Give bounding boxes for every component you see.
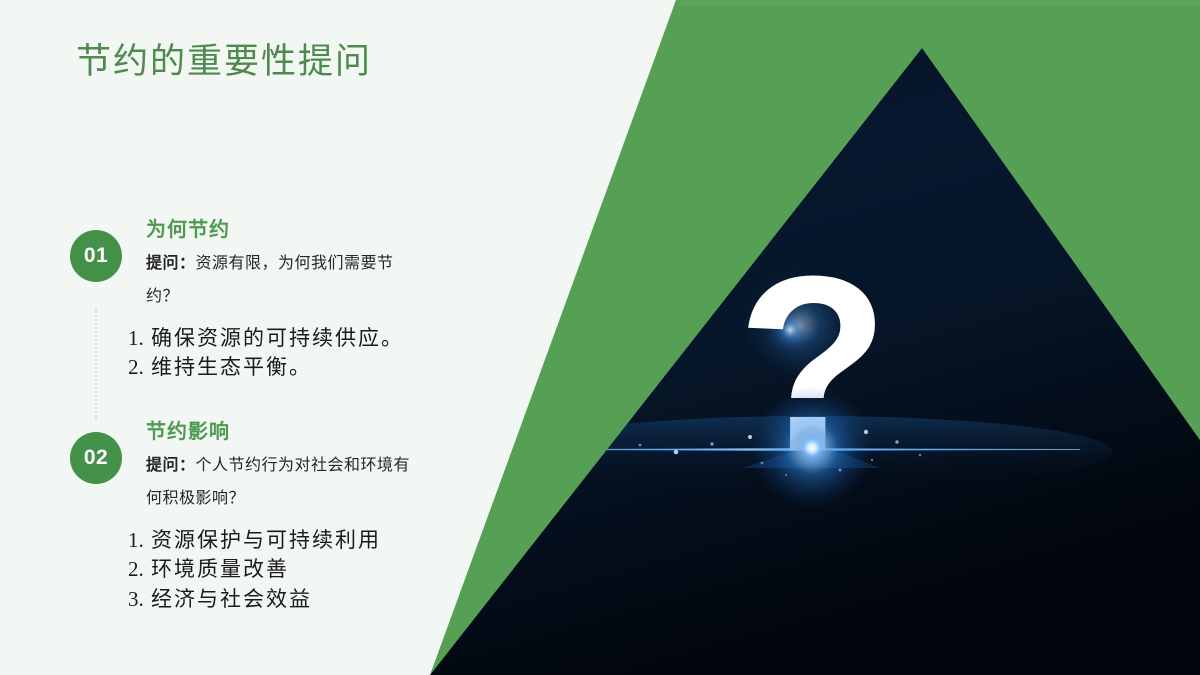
list-item: 3. 经济与社会效益 bbox=[128, 585, 470, 615]
block-question-01: 提问：资源有限，为何我们需要节约？ bbox=[146, 248, 416, 314]
block-body-02: 节约影响 提问：个人节约行为对社会和环境有何积极影响？ 1. 资源保护与可持续利… bbox=[146, 420, 470, 615]
block-heading-02: 节约影响 bbox=[146, 420, 470, 444]
list-item-text: 资源保护与可持续利用 bbox=[151, 528, 381, 552]
list-item: 1. 确保资源的可持续供应。 bbox=[128, 324, 470, 354]
list-item-number: 3. bbox=[128, 587, 144, 611]
green-top-highlight bbox=[676, 0, 1200, 6]
list-item-number: 2. bbox=[128, 355, 144, 379]
list-item: 2. 维持生态平衡。 bbox=[128, 353, 470, 383]
list-item-text: 经济与社会效益 bbox=[151, 587, 312, 611]
dotted-connector-line bbox=[95, 308, 97, 420]
list-item-text: 确保资源的可持续供应。 bbox=[151, 326, 404, 350]
list-item: 1. 资源保护与可持续利用 bbox=[128, 526, 470, 556]
question-mark-artwork: ? bbox=[430, 48, 1200, 675]
step-badge-02: 02 bbox=[70, 432, 122, 484]
question-lead-01: 提问： bbox=[146, 255, 196, 272]
list-item-text: 维持生态平衡。 bbox=[151, 355, 312, 379]
svg-text:?: ? bbox=[737, 224, 890, 503]
list-item-number: 2. bbox=[128, 557, 144, 581]
list-item-number: 1. bbox=[128, 326, 144, 350]
block-list-01: 1. 确保资源的可持续供应。 2. 维持生态平衡。 bbox=[128, 324, 470, 384]
list-item-text: 环境质量改善 bbox=[151, 557, 289, 581]
green-triangle-shape bbox=[430, 0, 1200, 675]
block-question-02: 提问：个人节约行为对社会和环境有何积极影响？ bbox=[146, 450, 416, 516]
list-item: 2. 环境质量改善 bbox=[128, 555, 470, 585]
slide-canvas: ? 节约的重要性提问 01 为何节约 提问：资源有限，为何我们需要节约？ 1. … bbox=[0, 0, 1200, 675]
step-badge-01: 01 bbox=[70, 230, 122, 282]
block-body-01: 为何节约 提问：资源有限，为何我们需要节约？ 1. 确保资源的可持续供应。 2.… bbox=[146, 218, 470, 383]
block-heading-01: 为何节约 bbox=[146, 218, 470, 242]
block-list-02: 1. 资源保护与可持续利用 2. 环境质量改善 3. 经济与社会效益 bbox=[128, 526, 470, 615]
list-item-number: 1. bbox=[128, 528, 144, 552]
question-lead-02: 提问： bbox=[146, 457, 196, 474]
content-blocks: 01 为何节约 提问：资源有限，为何我们需要节约？ 1. 确保资源的可持续供应。… bbox=[0, 0, 470, 675]
